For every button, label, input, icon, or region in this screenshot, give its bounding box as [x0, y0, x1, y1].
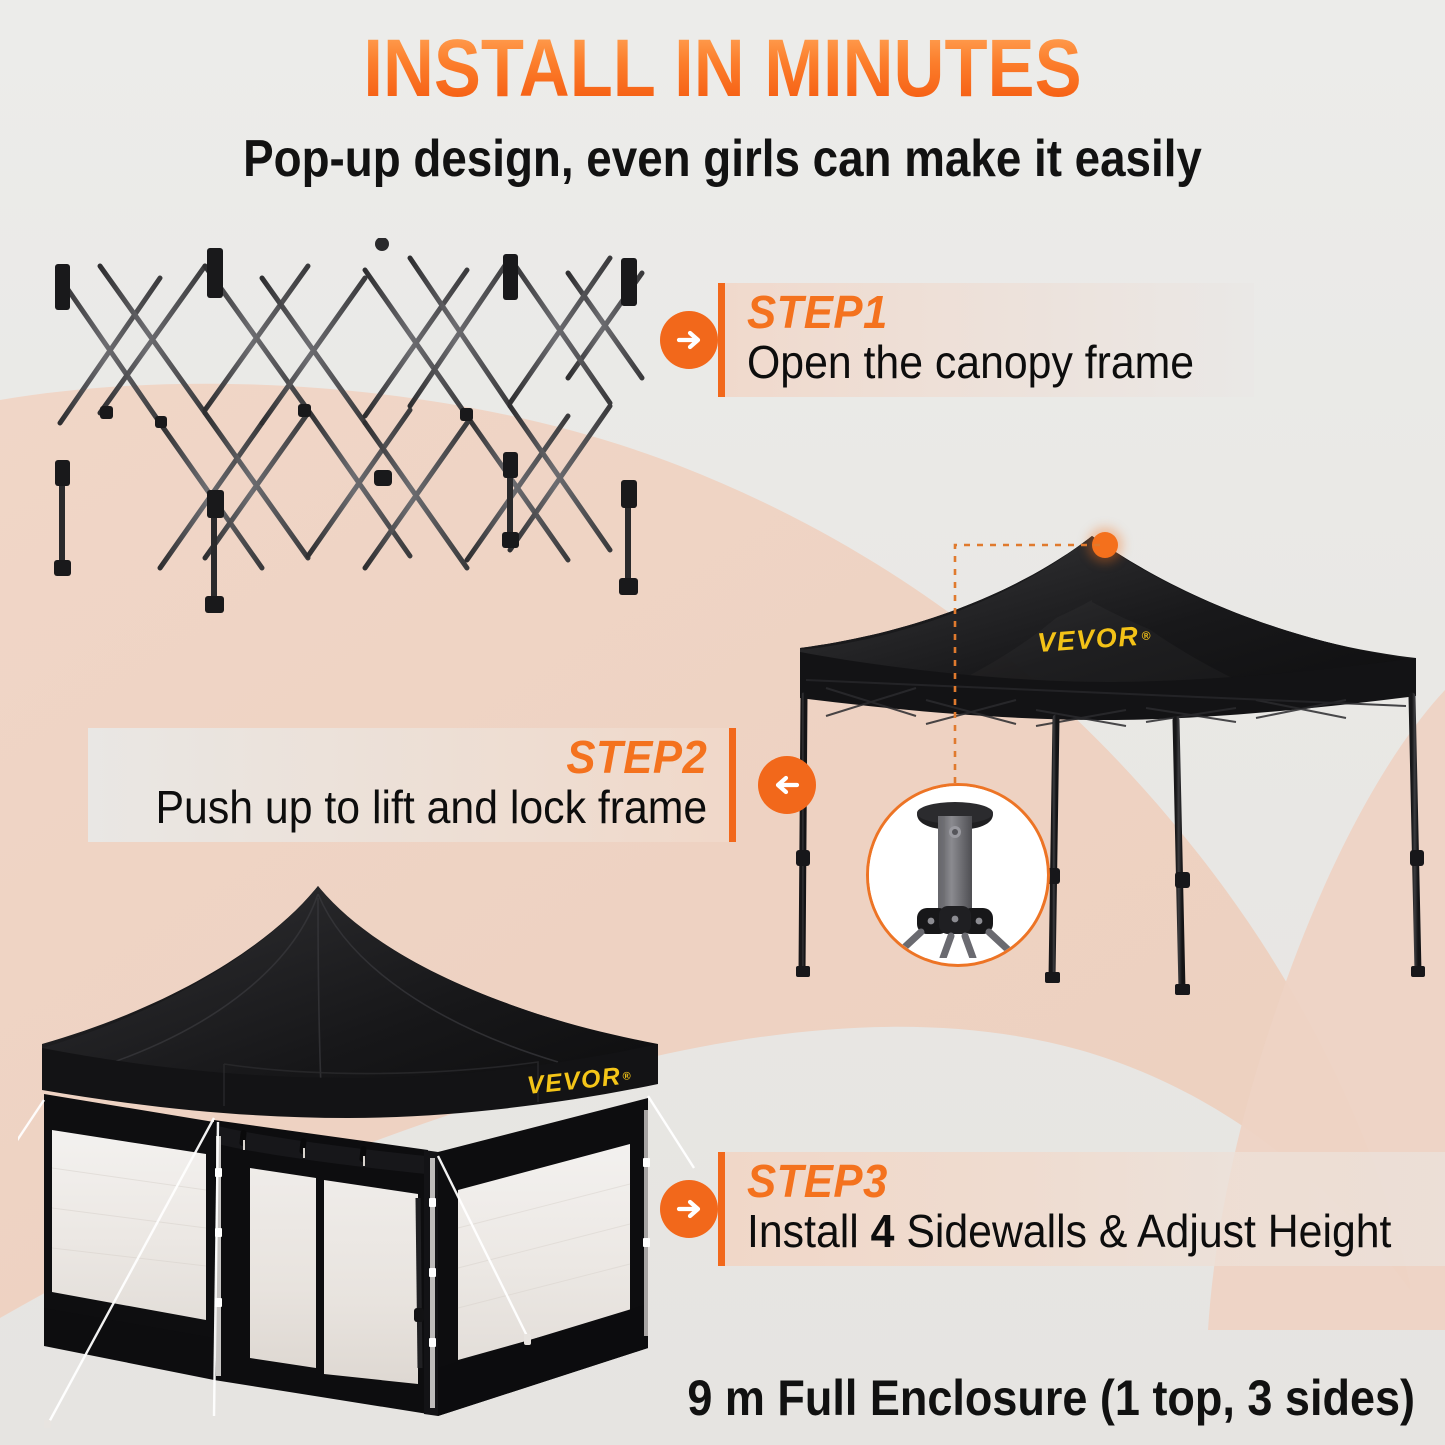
step-2-kicker: STEP2 [566, 734, 707, 782]
step-3-accent-bar [718, 1152, 725, 1266]
step-2-accent-bar [729, 728, 736, 842]
step-3-text-after: Sidewalls & Adjust Height [894, 1205, 1391, 1257]
step-3-text-before: Install [747, 1205, 871, 1257]
step-3-block[interactable]: STEP3 Install 4 Sidewalls & Adjust Heigh… [660, 1152, 1445, 1266]
arrow-left-icon [758, 756, 816, 814]
step-3-text: Install 4 Sidewalls & Adjust Height [747, 1206, 1391, 1257]
step-2-text: Push up to lift and lock frame [156, 782, 708, 833]
svg-text:®: ® [622, 1070, 631, 1083]
step-3-text-bold: 4 [871, 1205, 895, 1257]
step-2-panel: STEP2 Push up to lift and lock frame [88, 728, 729, 842]
step-2-block[interactable]: STEP2 Push up to lift and lock frame [88, 728, 816, 842]
infographic-canvas: INSTALL IN MINUTES Pop-up design, even g… [0, 0, 1445, 1445]
arrow-right-icon [660, 1180, 718, 1238]
step-3-kicker: STEP3 [747, 1158, 1405, 1206]
step-3-panel: STEP3 Install 4 Sidewalls & Adjust Heigh… [725, 1152, 1445, 1266]
enclosed-canopy-illustration: VEVOR ® [18, 868, 698, 1428]
canopy-peak-fitting-callout [866, 783, 1050, 967]
footer-caption: 9 m Full Enclosure (1 top, 3 sides) [142, 1373, 1416, 1423]
